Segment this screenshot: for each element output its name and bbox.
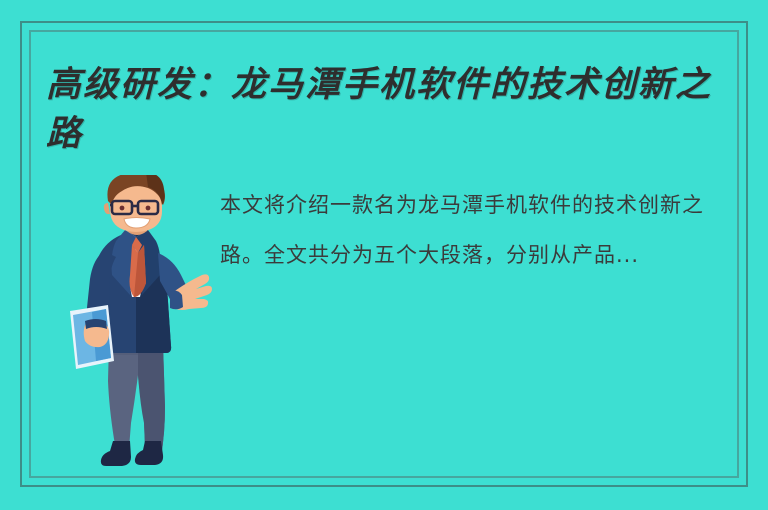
eye-right <box>146 206 151 211</box>
article-summary-text: 本文将介绍一款名为龙马潭手机软件的技术创新之路。全文共分为五个大段落，分别从产品… <box>220 180 730 280</box>
article-cover-card: 高级研发：龙马潭手机软件的技术创新之路 本文将介绍一款名为龙马潭手机软件的技术创… <box>0 0 768 510</box>
shoe-left <box>101 441 131 466</box>
shoe-right <box>135 441 163 465</box>
ear-left <box>104 203 110 214</box>
businessman-svg <box>62 175 212 485</box>
eye-left <box>120 206 125 211</box>
businessman-presenting-illustration <box>62 175 212 485</box>
trousers-shadow-right <box>138 343 165 457</box>
page-title: 高级研发：龙马潭手机软件的技术创新之路 <box>46 60 726 158</box>
